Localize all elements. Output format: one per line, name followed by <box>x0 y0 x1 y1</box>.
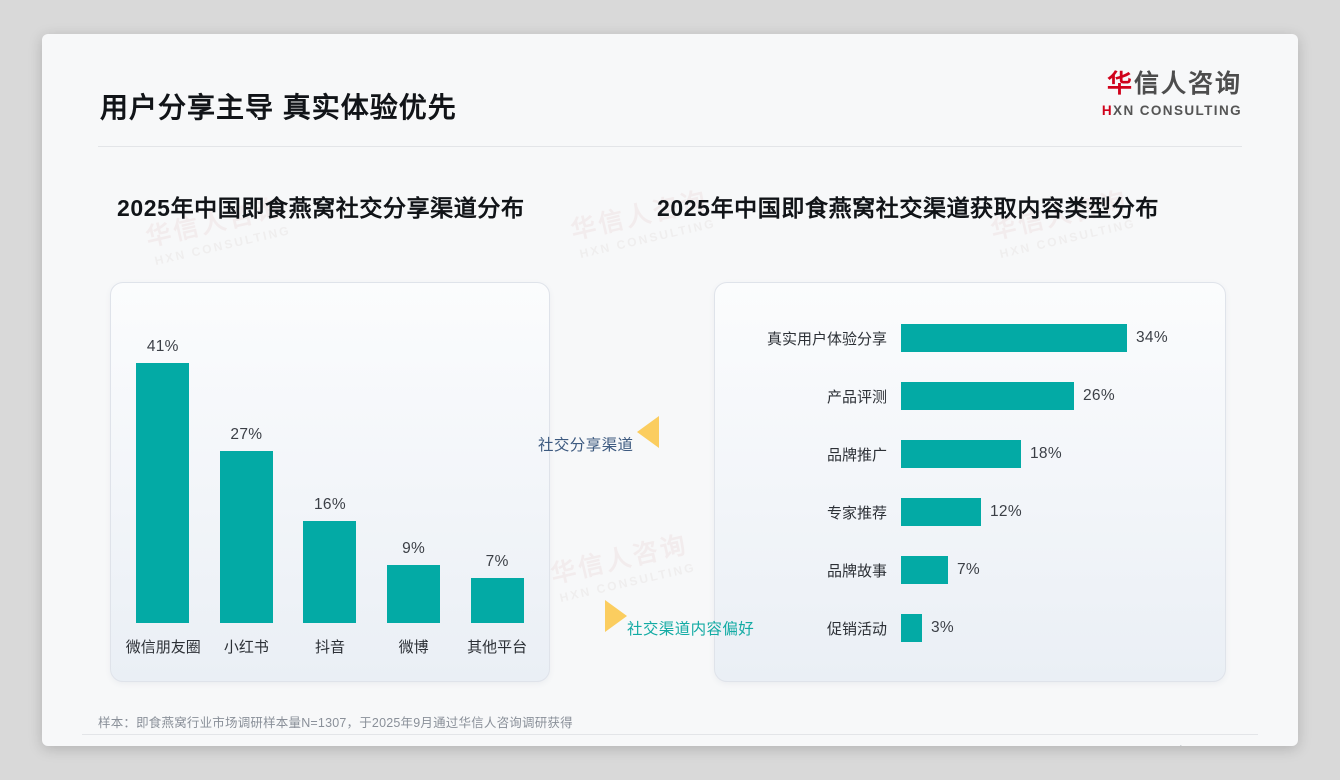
logo-english: HXN CONSULTING <box>1102 104 1242 118</box>
bar[interactable] <box>303 521 356 623</box>
bar-value-label: 3% <box>931 619 954 637</box>
slide-footer: ©2025.11 HXR华信人咨询 www.hxrcon.com <box>82 734 1258 746</box>
bar-column[interactable]: 27% <box>209 323 283 623</box>
bar-value-label: 9% <box>402 540 425 558</box>
category-label: 微信朋友圈 <box>126 636 200 657</box>
right-chart-title: 2025年中国即食燕窝社交渠道获取内容类型分布 <box>657 189 1159 223</box>
bar-column[interactable]: 16% <box>293 323 367 623</box>
page-title: 用户分享主导 真实体验优先 <box>100 86 457 126</box>
bar-row[interactable]: 真实用户体验分享 34% <box>715 323 1225 353</box>
bar-row[interactable]: 品牌故事 7% <box>715 555 1225 585</box>
connector-bottom-label: 社交渠道内容偏好 <box>627 617 754 639</box>
bar[interactable] <box>136 363 189 623</box>
category-label: 真实用户体验分享 <box>715 328 901 349</box>
logo-chinese-rest: 信人咨询 <box>1134 70 1242 98</box>
vertical-axis-labels: 微信朋友圈 小红书 抖音 微博 其他平台 <box>121 633 539 659</box>
category-label: 品牌推广 <box>715 444 901 465</box>
connector-top: 社交分享渠道 <box>538 416 659 472</box>
category-label: 产品评测 <box>715 386 901 407</box>
category-label: 专家推荐 <box>715 502 901 523</box>
right-chart-card: 真实用户体验分享 34% 产品评测 26% 品牌推广 18% 专家推荐 <box>714 282 1226 682</box>
bar-value-label: 18% <box>1030 445 1062 463</box>
bar-value-label: 16% <box>314 496 346 514</box>
logo-chinese: 华信人咨询 <box>1102 72 1242 97</box>
website-link[interactable]: www.hxrcon.com <box>1150 744 1244 746</box>
watermark-en: HXN CONSULTING <box>153 223 292 268</box>
category-label: 微博 <box>377 636 451 657</box>
footnote: 样本：即食燕窝行业市场调研样本量N=1307，于2025年9月通过华信人咨询调研… <box>98 712 573 731</box>
header-divider <box>98 146 1242 147</box>
slide-header: 用户分享主导 真实体验优先 华信人咨询 HXN CONSULTING <box>42 34 1298 142</box>
left-chart-card: 41% 27% 16% 9% 7% <box>110 282 550 682</box>
copyright-text: ©2025.11 HXR华信人咨询 <box>98 744 244 746</box>
logo-english-rest: XN CONSULTING <box>1113 103 1242 118</box>
middle-connectors: 社交分享渠道 社交渠道内容偏好 <box>550 282 714 682</box>
bar-row[interactable]: 产品评测 26% <box>715 381 1225 411</box>
bar-row[interactable]: 促销活动 3% <box>715 613 1225 643</box>
slide-stage: 华信人咨询 HXN CONSULTING 华信人咨询 HXN CONSULTIN… <box>0 0 1340 780</box>
logo-chinese-first-char: 华 <box>1107 70 1134 98</box>
bar-row[interactable]: 品牌推广 18% <box>715 439 1225 469</box>
slide: 华信人咨询 HXN CONSULTING 华信人咨询 HXN CONSULTIN… <box>42 34 1298 746</box>
bar-column[interactable]: 41% <box>126 323 200 623</box>
vertical-bar-group: 41% 27% 16% 9% 7% <box>121 323 539 623</box>
bar[interactable] <box>901 440 1021 468</box>
bar-value-label: 26% <box>1083 387 1115 405</box>
bar-row[interactable]: 专家推荐 12% <box>715 497 1225 527</box>
bar-value-label: 12% <box>990 503 1022 521</box>
bar[interactable] <box>387 565 440 623</box>
bar-value-label: 7% <box>957 561 980 579</box>
bar[interactable] <box>901 556 948 584</box>
horizontal-bar-group: 真实用户体验分享 34% 产品评测 26% 品牌推广 18% 专家推荐 <box>715 309 1225 657</box>
brand-logo: 华信人咨询 HXN CONSULTING <box>1102 72 1242 118</box>
triangle-right-icon <box>605 600 627 632</box>
bar[interactable] <box>901 382 1074 410</box>
bar-value-label: 7% <box>486 553 509 571</box>
category-label: 小红书 <box>209 636 283 657</box>
bar[interactable] <box>901 324 1127 352</box>
bar-value-label: 34% <box>1136 329 1168 347</box>
bar[interactable] <box>901 614 922 642</box>
connector-top-label: 社交分享渠道 <box>538 433 633 455</box>
bar[interactable] <box>901 498 981 526</box>
logo-english-first-char: H <box>1102 103 1113 118</box>
left-chart-title: 2025年中国即食燕窝社交分享渠道分布 <box>117 189 525 223</box>
bar[interactable] <box>220 451 273 623</box>
bar-column[interactable]: 7% <box>460 323 534 623</box>
category-label: 品牌故事 <box>715 560 901 581</box>
category-label: 抖音 <box>293 636 367 657</box>
bar-value-label: 41% <box>147 338 179 356</box>
bar[interactable] <box>471 578 524 623</box>
category-label: 其他平台 <box>460 636 534 657</box>
bar-column[interactable]: 9% <box>377 323 451 623</box>
connector-bottom: 社交渠道内容偏好 <box>605 600 754 656</box>
triangle-left-icon <box>637 416 659 448</box>
bar-value-label: 27% <box>230 426 262 444</box>
